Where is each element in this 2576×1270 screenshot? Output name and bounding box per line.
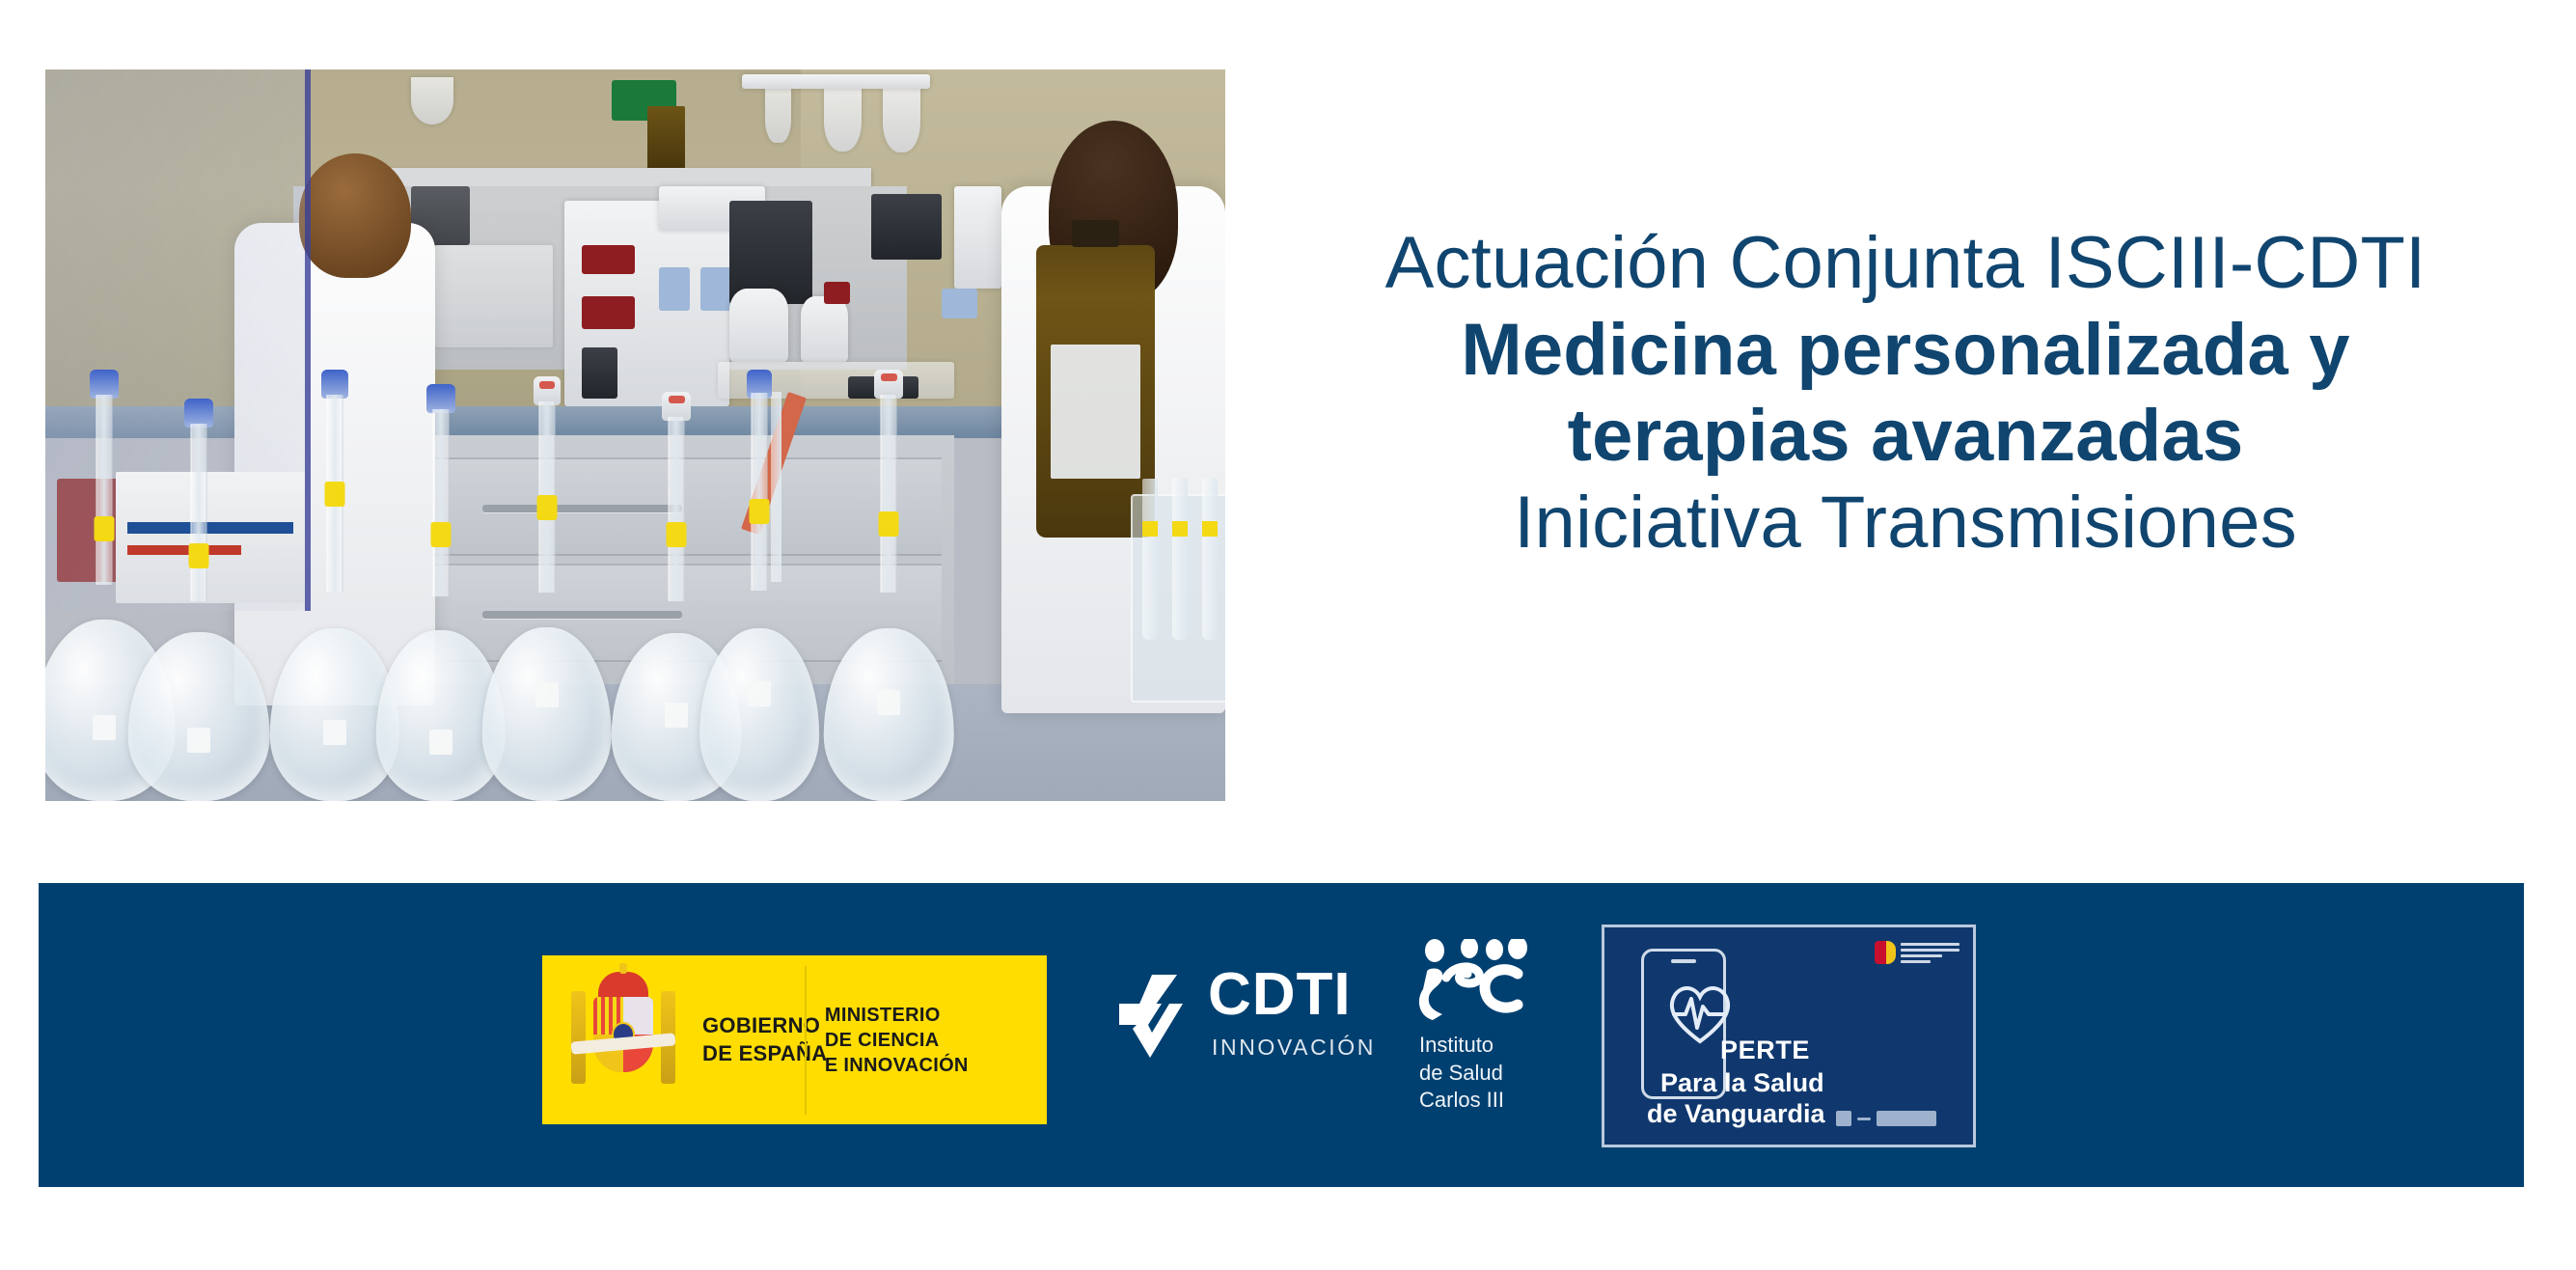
cdti-logo: CDTI INNOVACIÓN <box>1119 965 1380 1105</box>
perte-salud-vanguardia-card: PERTE Para la Salud de Vanguardia <box>1602 925 1976 1147</box>
cdti-wordmark: CDTI <box>1208 965 1352 1025</box>
ministerio-line-3: E INNOVACIÓN <box>825 1053 969 1078</box>
spain-coat-of-arms-icon <box>569 968 677 1113</box>
isciii-line-2: de Salud <box>1419 1060 1504 1088</box>
gobierno-de-espana-label: GOBIERNO DE ESPAÑA <box>702 1012 827 1066</box>
cdti-tagline: INNOVACIÓN <box>1212 1035 1376 1061</box>
isciii-label: Instituto de Salud Carlos III <box>1419 1032 1504 1115</box>
title-line-3: terapias avanzadas <box>1254 393 2557 480</box>
gobierno-line-1: GOBIERNO <box>702 1012 827 1039</box>
ministerio-line-1: MINISTERIO <box>825 1003 969 1028</box>
title-line-2: Medicina personalizada y <box>1254 307 2557 394</box>
title-line-4: Iniciativa Transmisiones <box>1254 480 2557 566</box>
gobierno-line-2: DE ESPAÑA <box>702 1040 827 1067</box>
lab-photo <box>45 69 1225 801</box>
ministerio-line-2: DE CIENCIA <box>825 1028 969 1053</box>
isciii-line-1: Instituto <box>1419 1032 1504 1060</box>
gobierno-de-espana-logo: GOBIERNO DE ESPAÑA MINISTERIO DE CIENCIA… <box>542 955 1047 1124</box>
page-title: Actuación Conjunta ISCIII-CDTI Medicina … <box>1254 220 2557 566</box>
logo-bar: GOBIERNO DE ESPAÑA MINISTERIO DE CIENCIA… <box>39 883 2524 1187</box>
isciii-figures-icon <box>1417 939 1543 1028</box>
title-line-1: Actuación Conjunta ISCIII-CDTI <box>1254 220 2557 307</box>
spain-logo-divider <box>805 966 807 1115</box>
eu-financiado-icon <box>1836 1106 1959 1131</box>
ministerio-label: MINISTERIO DE CIENCIA E INNOVACIÓN <box>825 1003 969 1078</box>
isciii-line-3: Carlos III <box>1419 1087 1504 1115</box>
isciii-logo: Instituto de Salud Carlos III <box>1404 939 1568 1127</box>
perte-title: PERTE <box>1720 1035 1810 1065</box>
perte-line-3: de Vanguardia <box>1647 1099 1825 1129</box>
plan-recuperacion-icon <box>1875 939 1959 966</box>
perte-line-2: Para la Salud <box>1660 1068 1824 1098</box>
cdti-check-arrow-icon <box>1119 975 1198 1058</box>
